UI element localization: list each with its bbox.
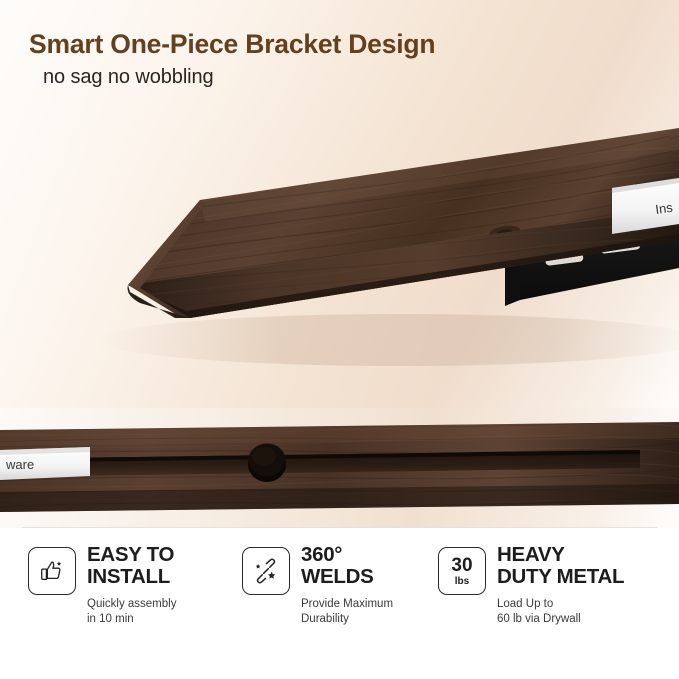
feature-easy-to-install: EASY TO INSTALL Quickly assembly in 10 m… bbox=[28, 544, 176, 628]
page-title: Smart One-Piece Bracket Design bbox=[29, 30, 435, 60]
weight-badge-number: 30 bbox=[451, 556, 472, 575]
feature-title: HEAVY DUTY METAL bbox=[497, 544, 624, 588]
product-infographic: Ins bbox=[0, 0, 679, 679]
feature-subtitle: Load Up to 60 lb via Drywall bbox=[497, 597, 624, 628]
shelf-label-text-bottom: ware bbox=[5, 457, 34, 472]
feature-360-welds: 360° WELDS Provide Maximum Durability bbox=[242, 544, 393, 628]
section-divider bbox=[22, 527, 657, 528]
feature-subtitle: Quickly assembly in 10 min bbox=[87, 597, 176, 628]
bottom-detail-scene: ware bbox=[0, 408, 679, 528]
weld-icon bbox=[242, 547, 290, 595]
feature-subtitle: Provide Maximum Durability bbox=[301, 597, 393, 628]
headline-block: Smart One-Piece Bracket Design no sag no… bbox=[29, 30, 435, 89]
feature-title: EASY TO INSTALL bbox=[87, 544, 176, 588]
mounting-hole bbox=[248, 444, 286, 483]
shelf-label-sticker-bottom: ware bbox=[0, 447, 90, 480]
thumbs-up-icon bbox=[28, 547, 76, 595]
shelf-underside-illustration: ware bbox=[0, 408, 679, 528]
weight-badge-unit: lbs bbox=[455, 577, 469, 587]
page-subtitle: no sag no wobbling bbox=[43, 66, 435, 89]
feature-heavy-duty-metal: 30 lbs HEAVY DUTY METAL Load Up to 60 lb… bbox=[438, 544, 624, 628]
weight-badge: 30 lbs bbox=[438, 547, 486, 595]
shelf-label-text-top: Ins bbox=[654, 200, 674, 217]
feature-title: 360° WELDS bbox=[301, 544, 393, 588]
feature-row: EASY TO INSTALL Quickly assembly in 10 m… bbox=[0, 536, 679, 679]
